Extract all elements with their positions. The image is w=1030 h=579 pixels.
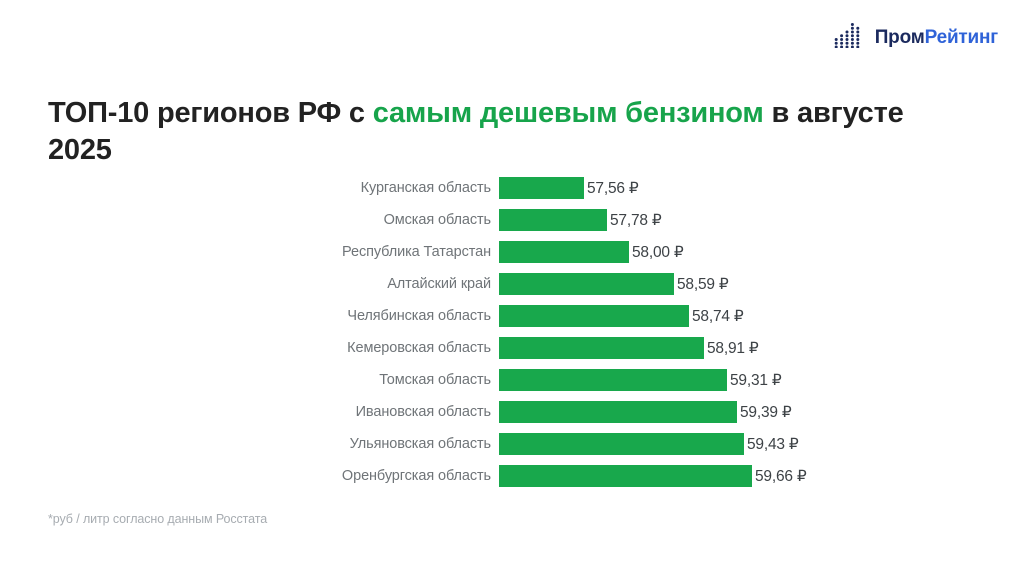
chart-bar-zone: 59,43 ₽ xyxy=(499,433,1030,455)
chart-row-label: Республика Татарстан xyxy=(0,244,499,260)
chart-row: Кемеровская область58,91 ₽ xyxy=(0,332,1030,364)
chart-bar-zone: 59,39 ₽ xyxy=(499,401,1030,423)
chart-bar-zone: 57,56 ₽ xyxy=(499,177,1030,199)
chart-bar xyxy=(499,209,607,231)
chart-bar-zone: 58,00 ₽ xyxy=(499,241,1030,263)
chart-row: Ивановская область59,39 ₽ xyxy=(0,396,1030,428)
chart-bar xyxy=(499,241,629,263)
chart-bar xyxy=(499,465,752,487)
chart-row: Челябинская область58,74 ₽ xyxy=(0,300,1030,332)
chart-row-label: Оренбургская область xyxy=(0,468,499,484)
brand-logo-text-reyting: Рейтинг xyxy=(925,27,998,48)
chart-row: Омская область57,78 ₽ xyxy=(0,204,1030,236)
chart-bar xyxy=(499,369,727,391)
chart-bar xyxy=(499,177,584,199)
chart-bar-zone: 57,78 ₽ xyxy=(499,209,1030,231)
chart-bar xyxy=(499,401,737,423)
chart-row-label: Ульяновская область xyxy=(0,436,499,452)
chart-row: Ульяновская область59,43 ₽ xyxy=(0,428,1030,460)
chart-row: Алтайский край58,59 ₽ xyxy=(0,268,1030,300)
chart-bar xyxy=(499,337,704,359)
chart-bar-zone: 59,31 ₽ xyxy=(499,369,1030,391)
chart-row-label: Омская область xyxy=(0,212,499,228)
dot-matrix-bars-icon xyxy=(834,22,864,53)
chart-bar xyxy=(499,305,689,327)
page-header: ПромРейтинг xyxy=(0,0,1030,72)
chart-row: Оренбургская область59,66 ₽ xyxy=(0,460,1030,492)
bar-chart: Курганская область57,56 ₽Омская область5… xyxy=(0,172,1030,502)
chart-bar-value: 57,78 ₽ xyxy=(607,211,662,230)
page-title-highlight: самым дешевым бензином xyxy=(373,97,764,129)
brand-logo-text-prom: Пром xyxy=(875,27,925,48)
chart-bar-value: 58,59 ₽ xyxy=(674,275,729,294)
brand-logo: ПромРейтинг xyxy=(834,20,998,54)
chart-bar-zone: 58,91 ₽ xyxy=(499,337,1030,359)
chart-bar-value: 59,31 ₽ xyxy=(727,371,782,390)
page-title-segment-1: ТОП-10 регионов РФ с xyxy=(48,97,373,129)
page-title: ТОП-10 регионов РФ с самым дешевым бензи… xyxy=(48,95,973,169)
brand-logo-text: ПромРейтинг xyxy=(875,28,998,47)
chart-bar-value: 58,00 ₽ xyxy=(629,243,684,262)
chart-bar-value: 59,66 ₽ xyxy=(752,467,807,486)
chart-row: Томская область59,31 ₽ xyxy=(0,364,1030,396)
chart-bar-value: 58,91 ₽ xyxy=(704,339,759,358)
chart-bar-zone: 58,59 ₽ xyxy=(499,273,1030,295)
chart-row-label: Челябинская область xyxy=(0,308,499,324)
chart-row-label: Курганская область xyxy=(0,180,499,196)
chart-bar-zone: 58,74 ₽ xyxy=(499,305,1030,327)
chart-row-label: Томская область xyxy=(0,372,499,388)
chart-row-label: Кемеровская область xyxy=(0,340,499,356)
chart-row: Республика Татарстан58,00 ₽ xyxy=(0,236,1030,268)
chart-row-label: Алтайский край xyxy=(0,276,499,292)
chart-bar-zone: 59,66 ₽ xyxy=(499,465,1030,487)
chart-bar xyxy=(499,273,674,295)
chart-bar-value: 59,39 ₽ xyxy=(737,403,792,422)
chart-bar xyxy=(499,433,744,455)
chart-footnote: *руб / литр согласно данным Росстата xyxy=(48,512,267,526)
chart-bar-value: 57,56 ₽ xyxy=(584,179,639,198)
chart-row: Курганская область57,56 ₽ xyxy=(0,172,1030,204)
chart-bar-value: 58,74 ₽ xyxy=(689,307,744,326)
chart-row-label: Ивановская область xyxy=(0,404,499,420)
chart-bar-value: 59,43 ₽ xyxy=(744,435,799,454)
